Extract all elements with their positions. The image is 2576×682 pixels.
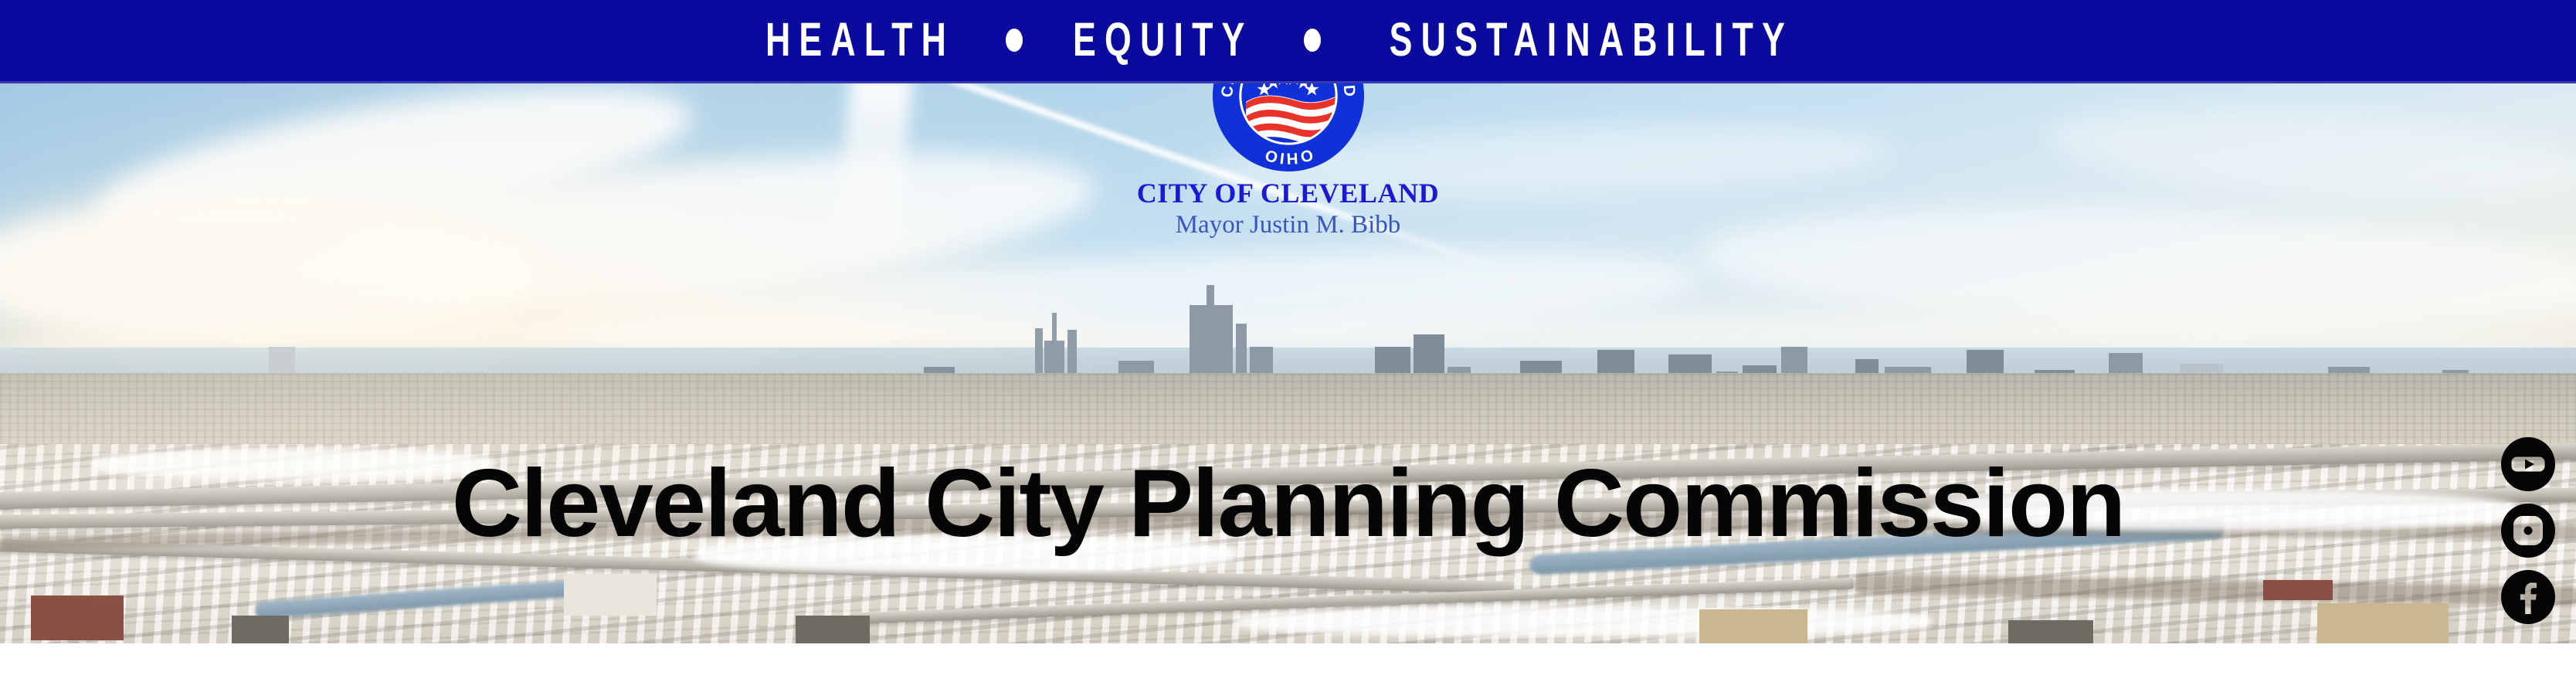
bullet-dot-icon-2 <box>1304 29 1321 52</box>
rooftop-4 <box>796 616 870 643</box>
snow-patch-3 <box>1931 490 2518 531</box>
tagline-banner: HEALTH EQUITY SUSTAINABILITY <box>0 0 2576 81</box>
wordmark: CITY OF CLEVELAND Mayor Justin M. Bibb <box>1137 179 1440 238</box>
banner-bottom-rule <box>0 81 2576 83</box>
tagline-word-sustainability: SUSTAINABILITY <box>1389 16 1793 63</box>
rooftop-1 <box>31 595 124 640</box>
bottom-white-strip <box>0 643 2576 682</box>
tagline-inner: HEALTH EQUITY SUSTAINABILITY <box>750 20 1826 60</box>
social-media-rail <box>2501 437 2555 624</box>
snow-patch-2 <box>695 537 1236 572</box>
page-root: HEALTH EQUITY SUSTAINABILITY <box>0 0 2576 682</box>
instagram-icon[interactable] <box>2501 504 2555 558</box>
tagline-word-health: HEALTH <box>765 16 955 63</box>
wordmark-organization: CITY OF CLEVELAND <box>1137 179 1440 207</box>
wordmark-official: Mayor Justin M. Bibb <box>1137 212 1440 238</box>
rooftop-2 <box>232 616 289 643</box>
tagline-word-equity: EQUITY <box>1073 16 1254 63</box>
foreground-neighborhood <box>0 444 2576 643</box>
bullet-dot-icon-1 <box>1006 29 1023 52</box>
facebook-icon[interactable] <box>2501 570 2555 624</box>
rooftop-6 <box>2008 620 2093 643</box>
snow-patch-1 <box>93 449 494 480</box>
rooftop-3 <box>564 574 657 616</box>
rooftop-5 <box>1699 609 1807 643</box>
rooftop-8 <box>2263 580 2333 600</box>
youtube-icon[interactable] <box>2501 437 2555 491</box>
snow-patch-4 <box>1236 606 1931 637</box>
rooftop-7 <box>2317 603 2449 643</box>
